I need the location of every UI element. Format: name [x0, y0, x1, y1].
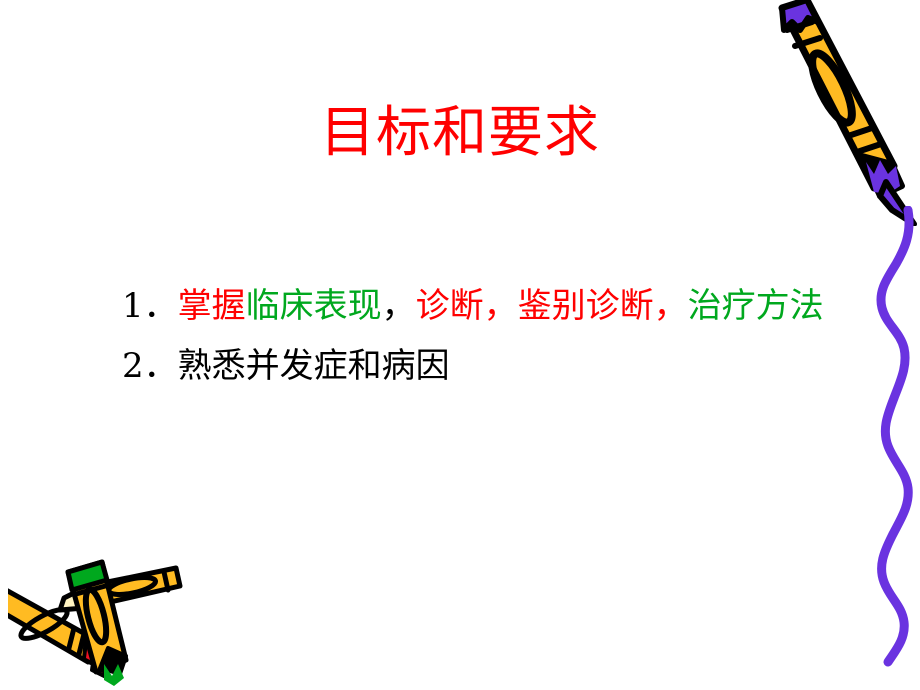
page-title: 目标和要求: [0, 101, 920, 164]
slide-canvas: 目标和要求 1．掌握临床表现，诊断，鉴别诊断，治疗方法 2．熟悉并发症和病因: [0, 0, 920, 690]
bullet-segment: 熟悉并发症和病因: [178, 346, 450, 386]
list-item: 1．掌握临床表现，诊断，鉴别诊断，治疗方法: [100, 282, 860, 330]
bullet-segment: ，: [382, 286, 416, 326]
crayons-bottom-left-icon: [8, 528, 208, 690]
purple-squiggle-line-icon: [856, 206, 920, 676]
bullet-segment: 掌握: [178, 286, 246, 326]
list-item: 2．熟悉并发症和病因: [100, 342, 860, 390]
bullet-number: 1．: [122, 286, 178, 326]
slide-body: 1．掌握临床表现，诊断，鉴别诊断，治疗方法 2．熟悉并发症和病因: [100, 282, 860, 390]
bullet-segment: 治疗方法: [688, 286, 824, 326]
bullet-segment: 诊断，鉴别诊断，: [416, 286, 688, 326]
bullet-segment: 临床表现: [246, 286, 382, 326]
bullet-number: 2．: [122, 346, 178, 386]
